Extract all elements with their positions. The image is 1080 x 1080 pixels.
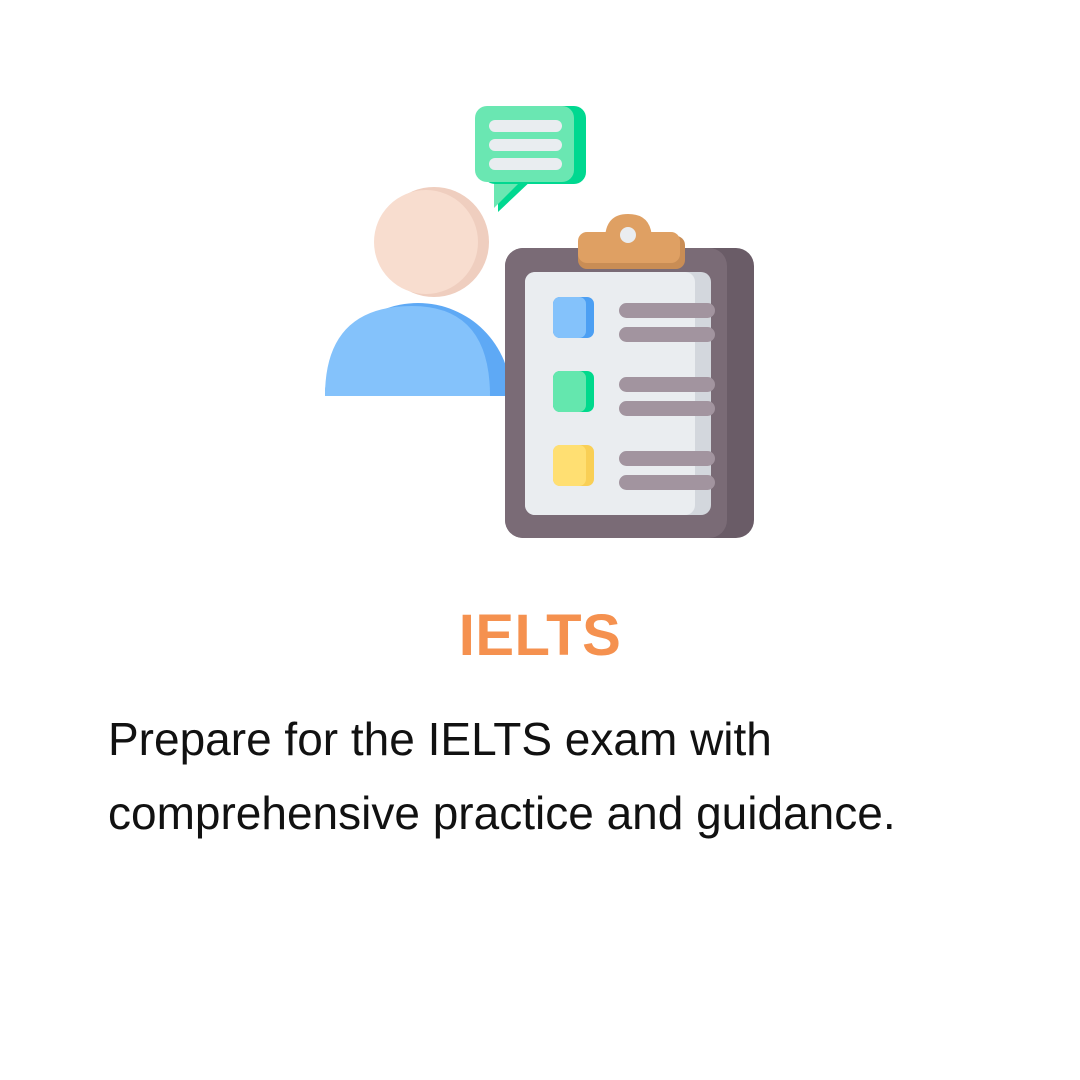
ielts-illustration [0,0,1080,580]
ielts-info-card: IELTS Prepare for the IELTS exam with co… [0,0,1080,1080]
person-avatar-icon [325,187,511,396]
page-description: Prepare for the IELTS exam with comprehe… [108,702,898,850]
clipboard-icon [505,214,754,538]
page-title: IELTS [0,604,1080,668]
speech-bubble-icon [475,106,586,212]
